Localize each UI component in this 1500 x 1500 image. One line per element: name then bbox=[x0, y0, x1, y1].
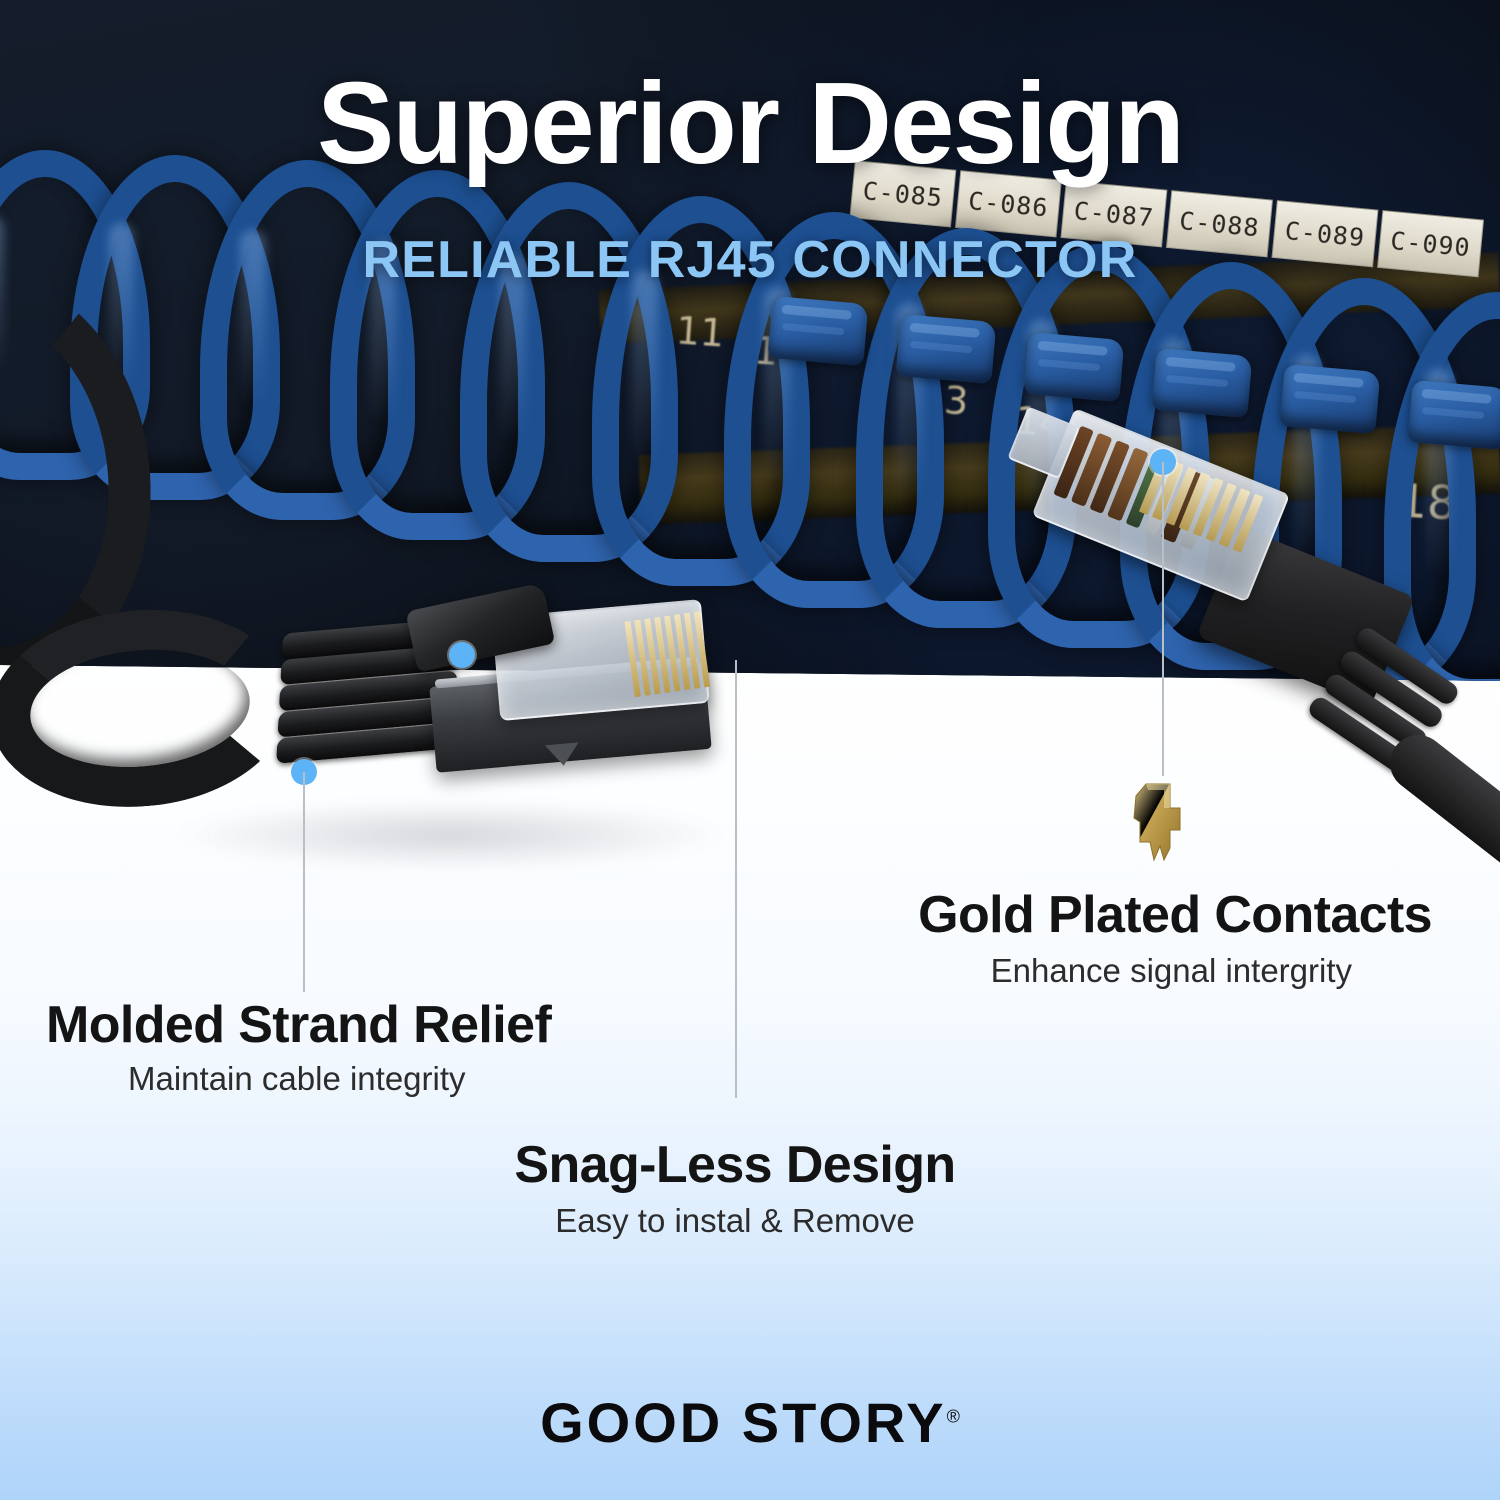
feature-title-snag-less-design: Snag-Less Design bbox=[0, 1135, 1500, 1195]
feature-subtitle-gold-plated-contacts: Enhance signal intergrity bbox=[0, 952, 1500, 990]
blue-plug-boot bbox=[1151, 348, 1252, 418]
page-title: Superior Design bbox=[0, 62, 1500, 185]
feature-title-gold-plated-contacts: Gold Plated Contacts bbox=[0, 885, 1500, 945]
blue-plug-boot bbox=[767, 296, 868, 366]
feature-title-molded-strand-relief: Molded Strand Relief bbox=[46, 995, 551, 1055]
blue-plug-boot bbox=[895, 314, 996, 384]
blue-plug-boot bbox=[1407, 380, 1500, 450]
registered-trademark-icon: ® bbox=[947, 1406, 960, 1426]
blue-plug-boot bbox=[1023, 332, 1124, 402]
marketing-canvas: C-085 C-086 C-087 C-088 C-089 C-090 11 1… bbox=[0, 0, 1500, 1500]
gold-contact-icon bbox=[1124, 778, 1196, 878]
rj45-connector-black-render bbox=[232, 567, 770, 841]
brand-logo: GOOD STORY® bbox=[0, 1390, 1500, 1455]
feature-subtitle-molded-strand-relief: Maintain cable integrity bbox=[128, 1060, 466, 1098]
callout-dot-snag-less[interactable] bbox=[449, 642, 475, 668]
blue-plug-boot bbox=[1279, 364, 1380, 434]
feature-subtitle-snag-less-design: Easy to instal & Remove bbox=[0, 1202, 1500, 1240]
callout-line-snag-less bbox=[735, 660, 737, 1098]
callout-line-gold-contacts bbox=[1162, 462, 1164, 776]
page-subtitle: RELIABLE RJ45 CONNECTOR bbox=[0, 230, 1500, 290]
gold-contact-pins bbox=[624, 611, 710, 697]
brand-name: GOOD STORY bbox=[540, 1391, 947, 1454]
